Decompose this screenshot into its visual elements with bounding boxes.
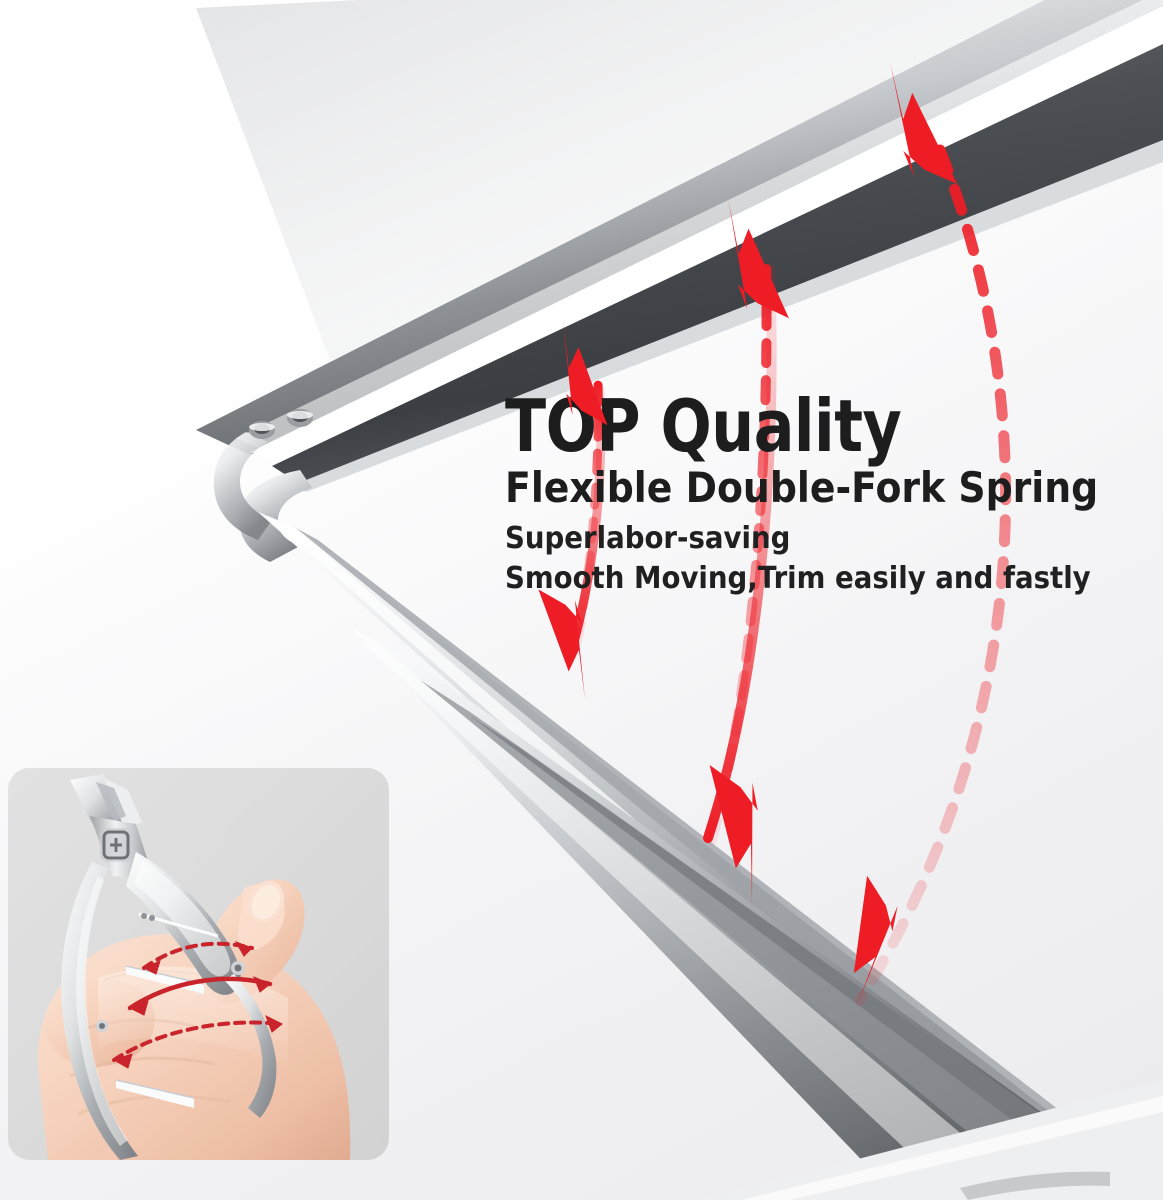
benefit-list: Superlabor-saving Smooth Moving,Trim eas… [505, 519, 1125, 598]
product-infographic: TOP Quality Flexible Double-Fork Spring … [0, 0, 1163, 1200]
subtitle: Flexible Double-Fork Spring [505, 465, 1063, 510]
copy-block: TOP Quality Flexible Double-Fork Spring … [505, 392, 1125, 599]
page-title: TOP Quality [505, 392, 1082, 461]
benefit-item-2: Smooth Moving,Trim easily and fastly [505, 559, 1075, 599]
benefit-item-1: Superlabor-saving [505, 519, 1075, 559]
hand-grip-inset [8, 768, 389, 1160]
